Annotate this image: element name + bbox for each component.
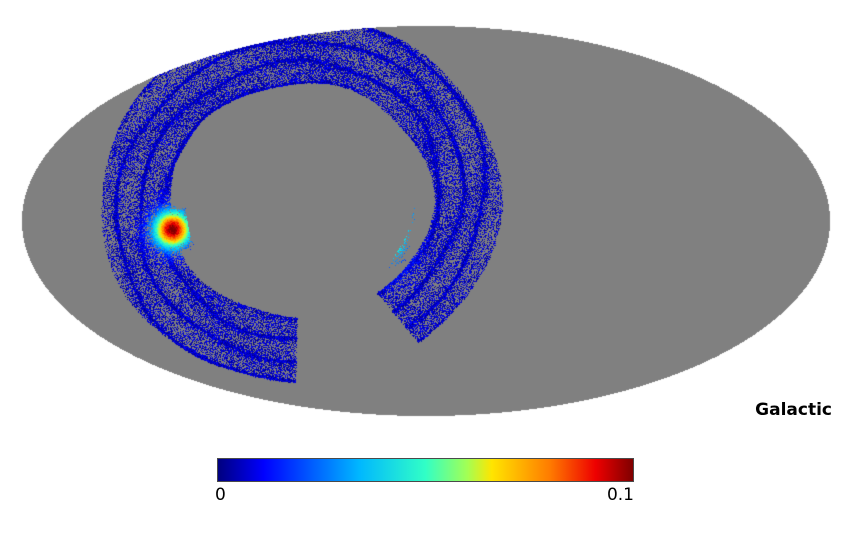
sky-map-figure: I Stokes Galactic 0 0.1 — [0, 0, 850, 540]
colorbar-max-label: 0.1 — [607, 485, 634, 505]
coordinate-system-label: Galactic — [755, 400, 832, 420]
colorbar-min-label: 0 — [215, 485, 226, 505]
colorbar-group: 0 0.1 — [0, 452, 850, 510]
mollweide-sky-map — [0, 0, 850, 440]
colorbar[interactable] — [217, 458, 634, 482]
